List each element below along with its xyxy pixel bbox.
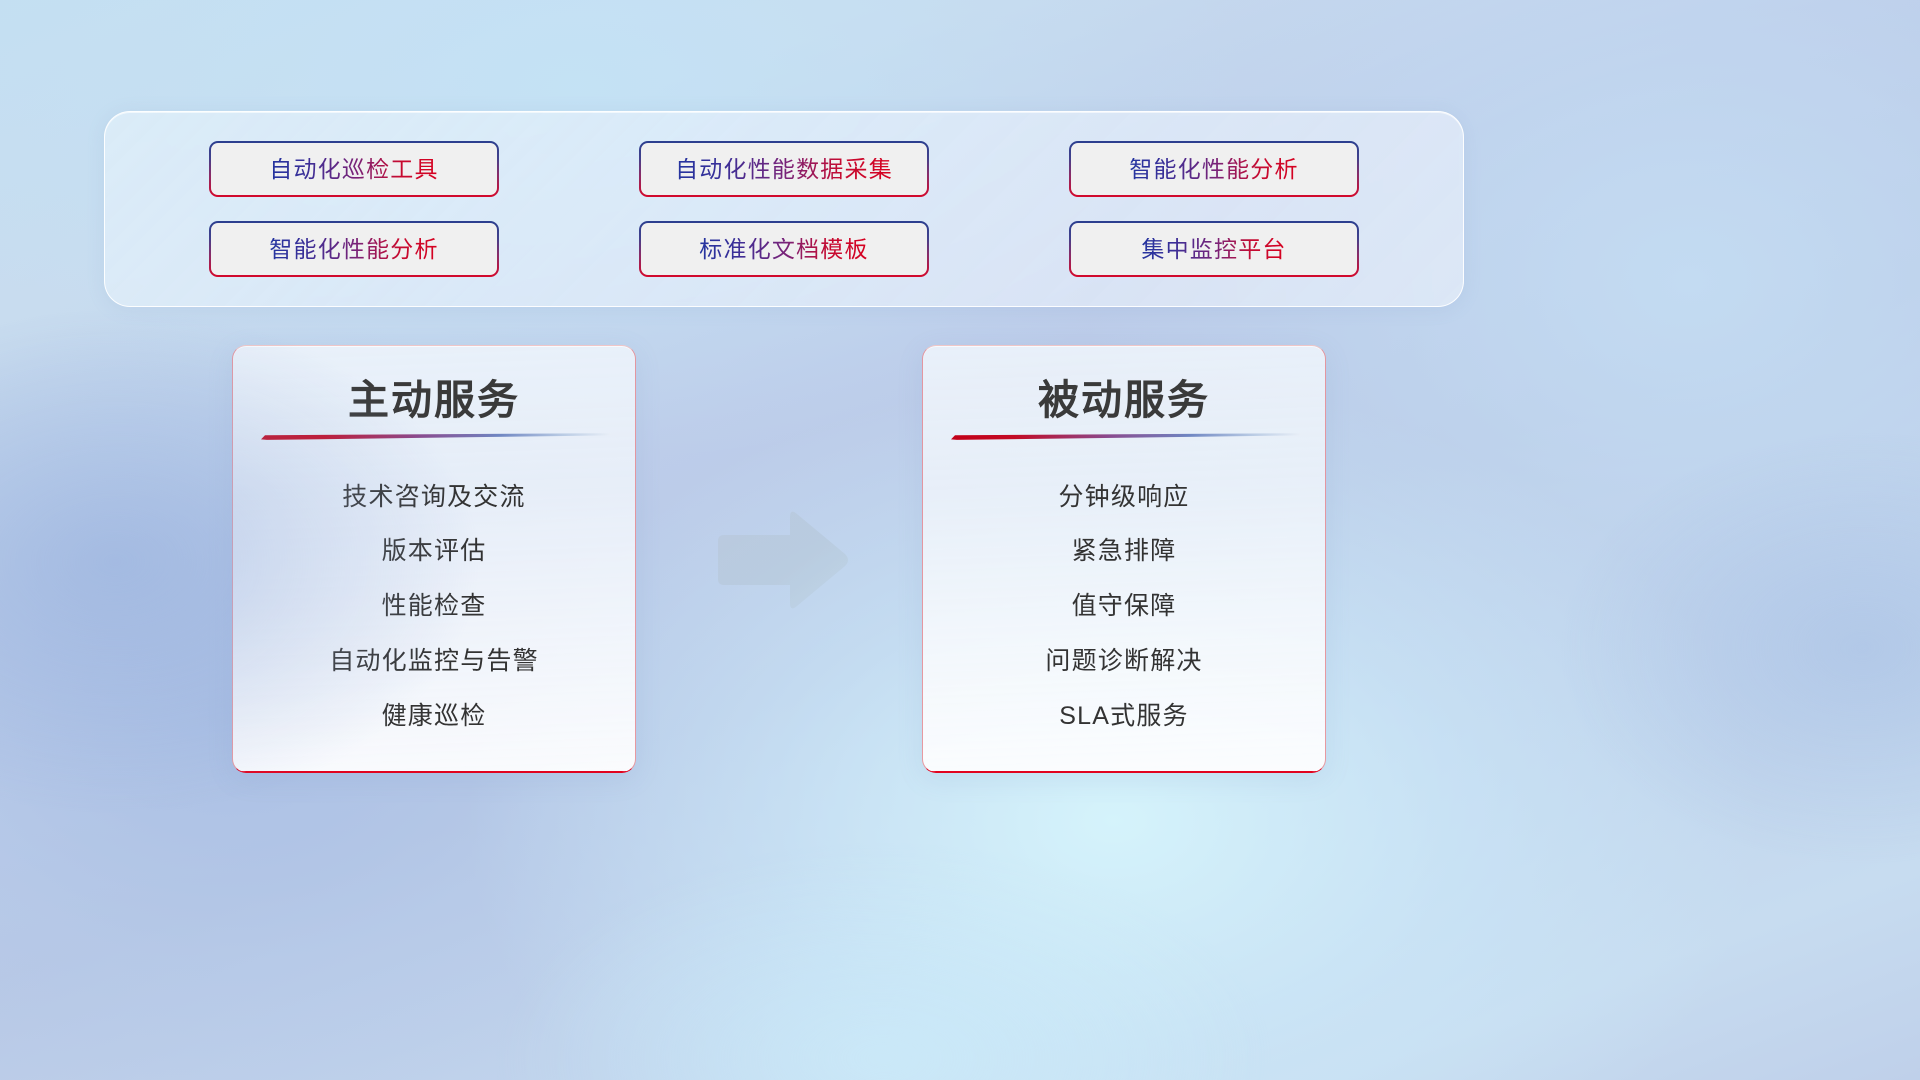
service-card-reactive[interactable]: 被动服务 分钟级响应 紧急排障 值守保障 (922, 345, 1326, 773)
capabilities-panel: 自动化巡检工具 自动化性能数据采集 智能化性能分析 智能化性能分析 标准化文档模… (104, 111, 1464, 307)
capability-pill-label: 智能化性能分析 (269, 238, 438, 261)
capability-pill-3[interactable]: 智能化性能分析 (1069, 141, 1359, 197)
service-list-item: 分钟级响应 (1058, 483, 1189, 512)
capability-pill-label: 自动化性能数据采集 (675, 158, 893, 181)
service-list-item: 自动化监控与告警 (329, 647, 539, 676)
service-list-item: 健康巡检 (382, 702, 487, 731)
slide-canvas: 自动化巡检工具 自动化性能数据采集 智能化性能分析 智能化性能分析 标准化文档模… (0, 0, 1920, 1080)
card-title: 主动服务 (233, 378, 635, 423)
card-divider-icon (951, 433, 1301, 440)
service-list-item: 紧急排障 (1072, 537, 1177, 566)
card-title: 被动服务 (923, 378, 1325, 423)
capability-pill-label: 智能化性能分析 (1129, 158, 1298, 181)
capability-pill-label: 集中监控平台 (1141, 238, 1286, 261)
capability-pill-2[interactable]: 自动化性能数据采集 (639, 141, 929, 197)
service-list-item: 问题诊断解决 (1045, 647, 1202, 676)
capability-pill-grid: 自动化巡检工具 自动化性能数据采集 智能化性能分析 智能化性能分析 标准化文档模… (105, 112, 1463, 306)
capability-pill-4[interactable]: 智能化性能分析 (209, 221, 499, 277)
service-list-item: 性能检查 (382, 592, 487, 621)
capability-pill-1[interactable]: 自动化巡检工具 (209, 141, 499, 197)
capability-pill-label: 自动化巡检工具 (269, 158, 438, 181)
service-item-list: 技术咨询及交流 版本评估 性能检查 自动化监控与告警 健康巡检 (233, 463, 635, 750)
service-list-item: 版本评估 (382, 537, 487, 566)
capability-pill-label: 标准化文档模板 (699, 238, 868, 261)
capability-pill-5[interactable]: 标准化文档模板 (639, 221, 929, 277)
arrow-right-icon (712, 505, 852, 615)
card-divider-icon (261, 433, 611, 440)
service-card-proactive[interactable]: 主动服务 技术咨询及交流 版本评估 性能检查 (232, 345, 636, 773)
capability-pill-6[interactable]: 集中监控平台 (1069, 221, 1359, 277)
service-list-item: 值守保障 (1072, 592, 1177, 621)
service-list-item: 技术咨询及交流 (342, 483, 525, 512)
service-list-item: SLA式服务 (1059, 702, 1188, 731)
service-item-list: 分钟级响应 紧急排障 值守保障 问题诊断解决 SLA式服务 (923, 463, 1325, 750)
